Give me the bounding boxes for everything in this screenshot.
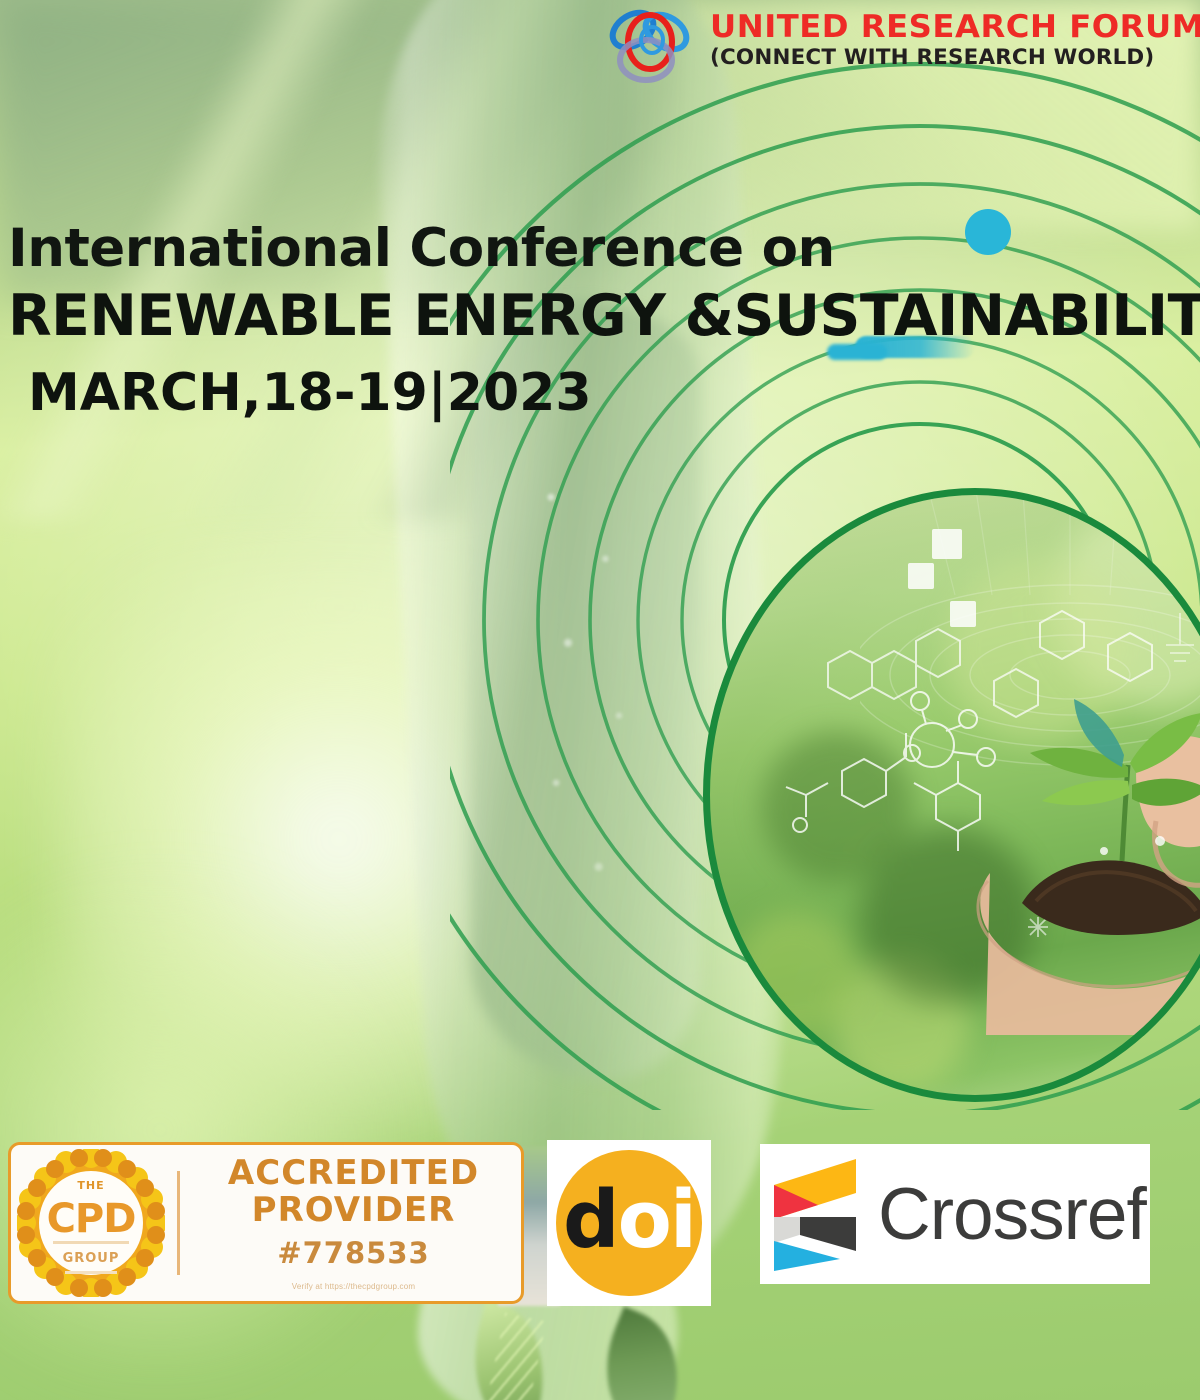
doi-letters-oi: oi: [618, 1181, 695, 1260]
conference-poster: UNITED RESEARCH FORUM (CONNECT WITH RESE…: [0, 0, 1200, 1400]
conference-headline: International Conference on RENEWABLE EN…: [8, 222, 1188, 419]
cpd-label-line-1: ACCREDITED: [200, 1155, 507, 1192]
crossref-badge[interactable]: Crossref: [760, 1144, 1150, 1284]
organization-logo[interactable]: UNITED RESEARCH FORUM (CONNECT WITH RESE…: [600, 4, 1192, 90]
cpd-text-block: ACCREDITED PROVIDER #778533 Verify at ht…: [200, 1155, 521, 1291]
crossref-logo-icon: [770, 1155, 862, 1273]
svg-text:GROUP: GROUP: [63, 1251, 120, 1266]
organization-logo-text: UNITED RESEARCH FORUM (CONNECT WITH RESE…: [710, 4, 1185, 69]
doi-logo-icon: doi: [556, 1150, 702, 1296]
cpd-verify-text: Verify at https://thecpdgroup.com: [200, 1282, 507, 1291]
cpd-accredited-provider-badge[interactable]: THE CPD GROUP ACCREDITED PROVIDER #77853…: [8, 1142, 524, 1304]
organization-name: UNITED RESEARCH FORUM: [710, 12, 1200, 44]
droplet-speckles: [500, 430, 670, 990]
crossref-wordmark: Crossref: [878, 1178, 1146, 1251]
cpd-seal-icon: THE CPD GROUP: [17, 1149, 165, 1297]
doi-badge[interactable]: doi: [547, 1140, 711, 1306]
cpd-divider: [177, 1171, 180, 1275]
interlocking-rings-logo-icon: [600, 4, 700, 88]
cpd-provider-number: #778533: [200, 1236, 507, 1270]
headline-line-2: RENEWABLE ENERGY &SUSTAINABILITY: [8, 288, 1182, 345]
cpd-label-line-2: PROVIDER: [200, 1192, 507, 1229]
headline-line-1: International Conference on: [8, 222, 1188, 275]
accreditation-badges: THE CPD GROUP ACCREDITED PROVIDER #77853…: [0, 1138, 1200, 1313]
conference-dates: MARCH,18-19|2023: [28, 367, 1188, 419]
svg-text:CPD: CPD: [47, 1196, 136, 1242]
hands-holding-seedling: [946, 635, 1200, 1035]
seedling-photo-circle: [703, 488, 1200, 1102]
doi-letter-d: d: [563, 1181, 618, 1260]
svg-text:THE: THE: [77, 1179, 104, 1192]
organization-tagline: (CONNECT WITH RESEARCH WORLD): [710, 46, 1195, 69]
